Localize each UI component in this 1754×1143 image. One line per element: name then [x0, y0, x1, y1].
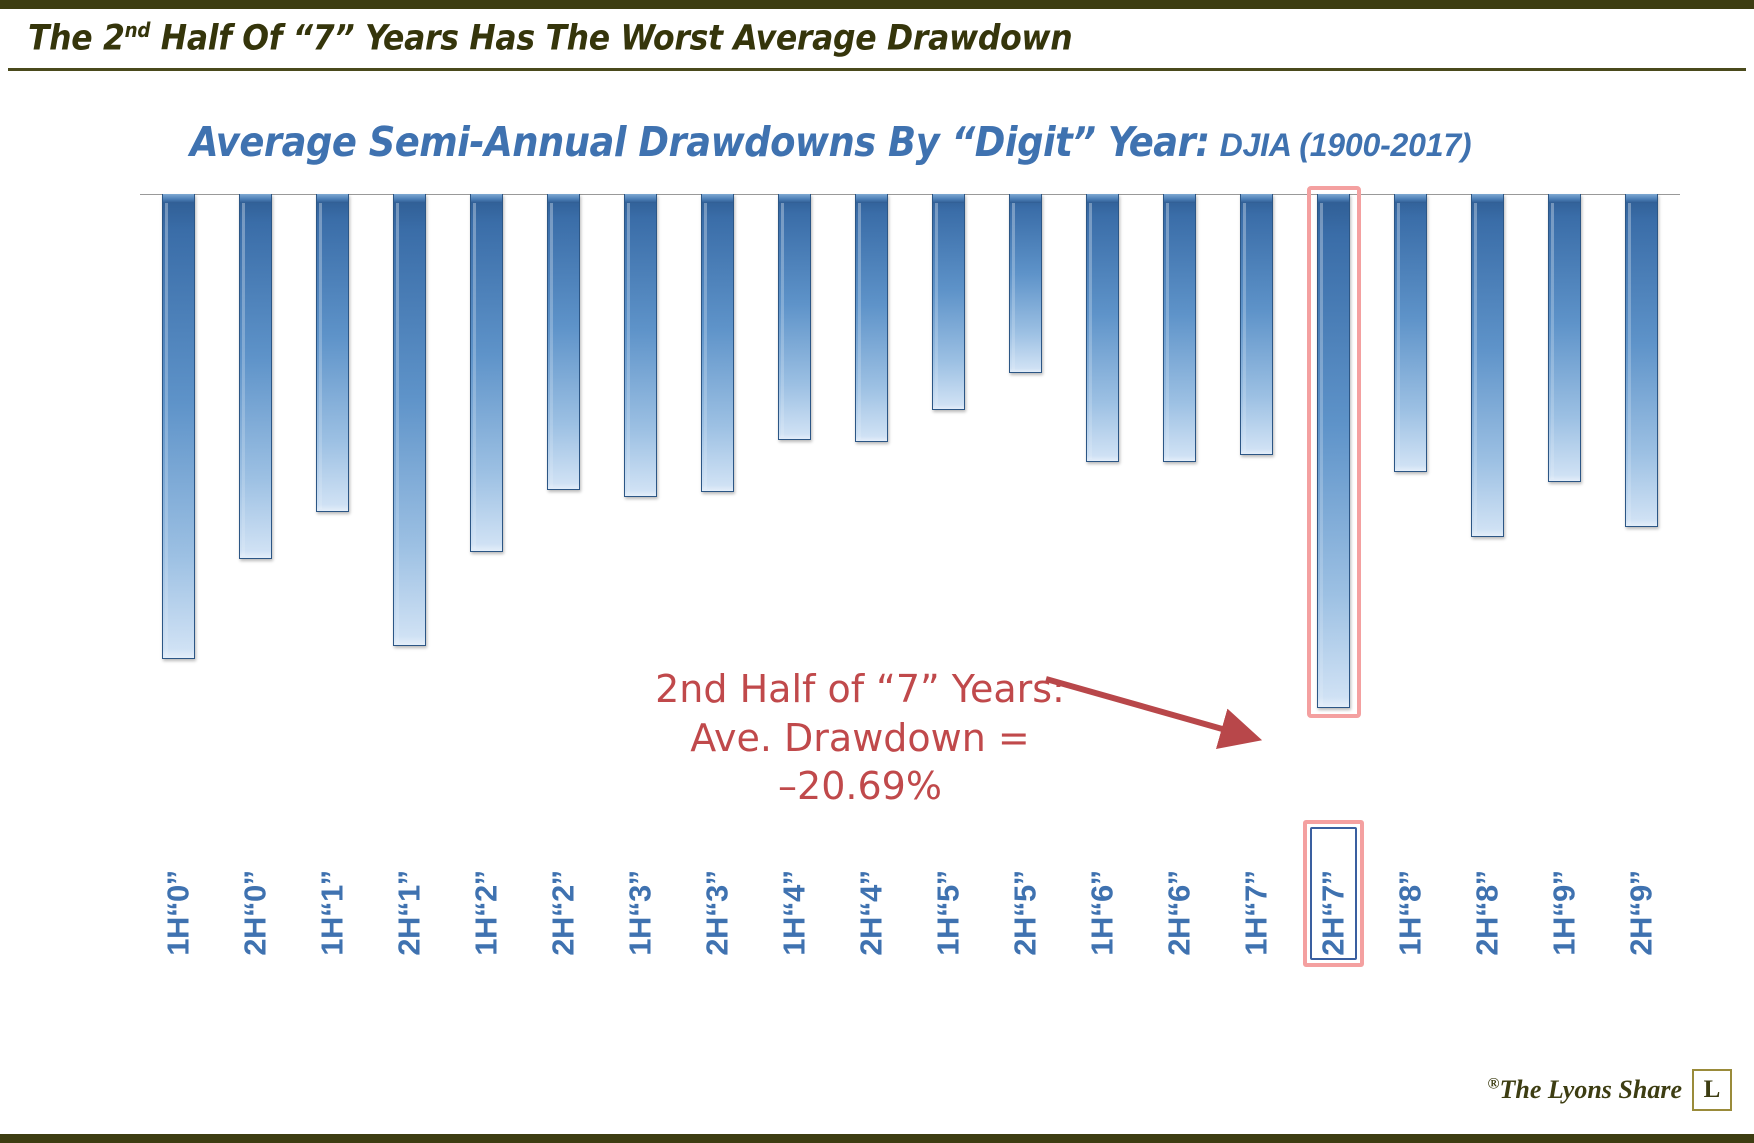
x-axis-tick: 2H“4” — [833, 820, 910, 970]
x-axis-tick-label: 2H“6” — [1162, 870, 1198, 955]
annotation-arrow-icon — [1040, 665, 1300, 755]
annotation-line-3: –20.69% — [600, 762, 1120, 811]
x-axis-tick-label: 2H“2” — [546, 870, 582, 955]
x-axis-tick: 1H“7” — [1218, 820, 1295, 970]
bar[interactable] — [547, 194, 580, 490]
title-divider — [8, 68, 1746, 71]
lyons-share-logo: L — [1692, 1069, 1732, 1111]
x-axis-tick-label: 1H“5” — [931, 870, 967, 955]
page-title: The 2nd Half Of “7” Years Has The Worst … — [28, 18, 1072, 59]
x-axis-tick-label: 2H“5” — [1008, 870, 1044, 955]
page-title-ordinal: nd — [125, 18, 150, 42]
x-axis-tick-label: 1H“1” — [315, 870, 351, 955]
x-axis-tick-label: 1H“0” — [161, 870, 197, 955]
bar-slot — [371, 194, 448, 815]
chart-title: Average Semi-Annual Drawdowns By “Digit”… — [190, 118, 1471, 166]
x-axis-tick: 1H“8” — [1372, 820, 1449, 970]
slide-canvas: The 2nd Half Of “7” Years Has The Worst … — [0, 0, 1754, 1143]
x-axis: 1H“0”2H“0”1H“1”2H“1”1H“2”2H“2”1H“3”2H“3”… — [140, 820, 1680, 970]
x-axis-tick-label: 1H“7” — [1239, 870, 1275, 955]
bar[interactable] — [1471, 194, 1504, 537]
x-axis-tick-label: 1H“8” — [1393, 870, 1429, 955]
x-axis-tick: 1H“6” — [1064, 820, 1141, 970]
bar-slot — [1603, 194, 1680, 815]
x-axis-tick: 2H“6” — [1141, 820, 1218, 970]
x-axis-tick-label: 2H“9” — [1624, 870, 1660, 955]
bar[interactable] — [239, 194, 272, 559]
footer-brand: ®The Lyons Share — [1487, 1075, 1682, 1105]
x-axis-tick: 2H“0” — [217, 820, 294, 970]
bar[interactable] — [1548, 194, 1581, 482]
x-axis-tick: 1H“4” — [756, 820, 833, 970]
bar-slot — [294, 194, 371, 815]
bar[interactable] — [1086, 194, 1119, 462]
bar[interactable] — [1163, 194, 1196, 462]
bar-slot — [1526, 194, 1603, 815]
bar[interactable] — [470, 194, 503, 552]
x-axis-tick-label: 2H“8” — [1470, 870, 1506, 955]
page-title-post: Half Of “7” Years Has The Worst Average … — [150, 19, 1072, 59]
highlight-box-label — [1303, 820, 1364, 967]
bar[interactable] — [316, 194, 349, 512]
bar[interactable] — [1009, 194, 1042, 373]
x-axis-tick-label: 2H“1” — [392, 870, 428, 955]
x-axis-tick-label: 1H“6” — [1085, 870, 1121, 955]
bar[interactable] — [701, 194, 734, 492]
bar[interactable] — [855, 194, 888, 442]
x-axis-tick-label: 2H“3” — [700, 870, 736, 955]
bar-slot — [448, 194, 525, 815]
x-axis-tick: 2H“5” — [987, 820, 1064, 970]
x-axis-tick-label: 1H“2” — [469, 870, 505, 955]
x-axis-tick: 1H“3” — [602, 820, 679, 970]
registered-mark-icon: ® — [1487, 1075, 1499, 1092]
page-title-pre: The 2 — [28, 19, 125, 59]
bar[interactable] — [932, 194, 965, 410]
bar[interactable] — [1240, 194, 1273, 455]
chart-title-subtitle: DJIA (1900-2017) — [1220, 127, 1472, 163]
x-axis-tick-label: 2H“0” — [238, 870, 274, 955]
bottom-rule — [0, 1134, 1754, 1143]
x-axis-tick-label: 2H“4” — [854, 870, 890, 955]
x-axis-tick: 1H“2” — [448, 820, 525, 970]
x-axis-tick: 1H“1” — [294, 820, 371, 970]
chart-title-main: Average Semi-Annual Drawdowns By “Digit”… — [190, 118, 1210, 166]
x-axis-tick-label: 1H“9” — [1547, 870, 1583, 955]
bar-slot — [1449, 194, 1526, 815]
x-axis-tick: 1H“5” — [910, 820, 987, 970]
bar[interactable] — [1394, 194, 1427, 472]
bar-slot — [1372, 194, 1449, 815]
footer-brand-name: The Lyons Share — [1500, 1075, 1683, 1104]
x-axis-tick-label: 1H“4” — [777, 870, 813, 955]
x-axis-tick: 2H“9” — [1603, 820, 1680, 970]
x-axis-tick: 2H“2” — [525, 820, 602, 970]
bar[interactable] — [1317, 194, 1350, 708]
x-axis-tick: 2H“7” — [1295, 820, 1372, 970]
x-axis-tick: 2H“8” — [1449, 820, 1526, 970]
x-axis-tick: 2H“3” — [679, 820, 756, 970]
bar[interactable] — [162, 194, 195, 659]
bar-slot — [1295, 194, 1372, 815]
bar-slot — [525, 194, 602, 815]
x-axis-tick-label: 1H“3” — [623, 870, 659, 955]
bar[interactable] — [1625, 194, 1658, 527]
bar[interactable] — [393, 194, 426, 646]
top-rule — [0, 0, 1754, 9]
bar[interactable] — [624, 194, 657, 497]
bar[interactable] — [778, 194, 811, 440]
x-axis-tick: 1H“9” — [1526, 820, 1603, 970]
bar-slot — [140, 194, 217, 815]
bar-slot — [217, 194, 294, 815]
x-axis-tick: 1H“0” — [140, 820, 217, 970]
highlight-box-label-inner — [1310, 827, 1357, 960]
x-axis-tick: 2H“1” — [371, 820, 448, 970]
